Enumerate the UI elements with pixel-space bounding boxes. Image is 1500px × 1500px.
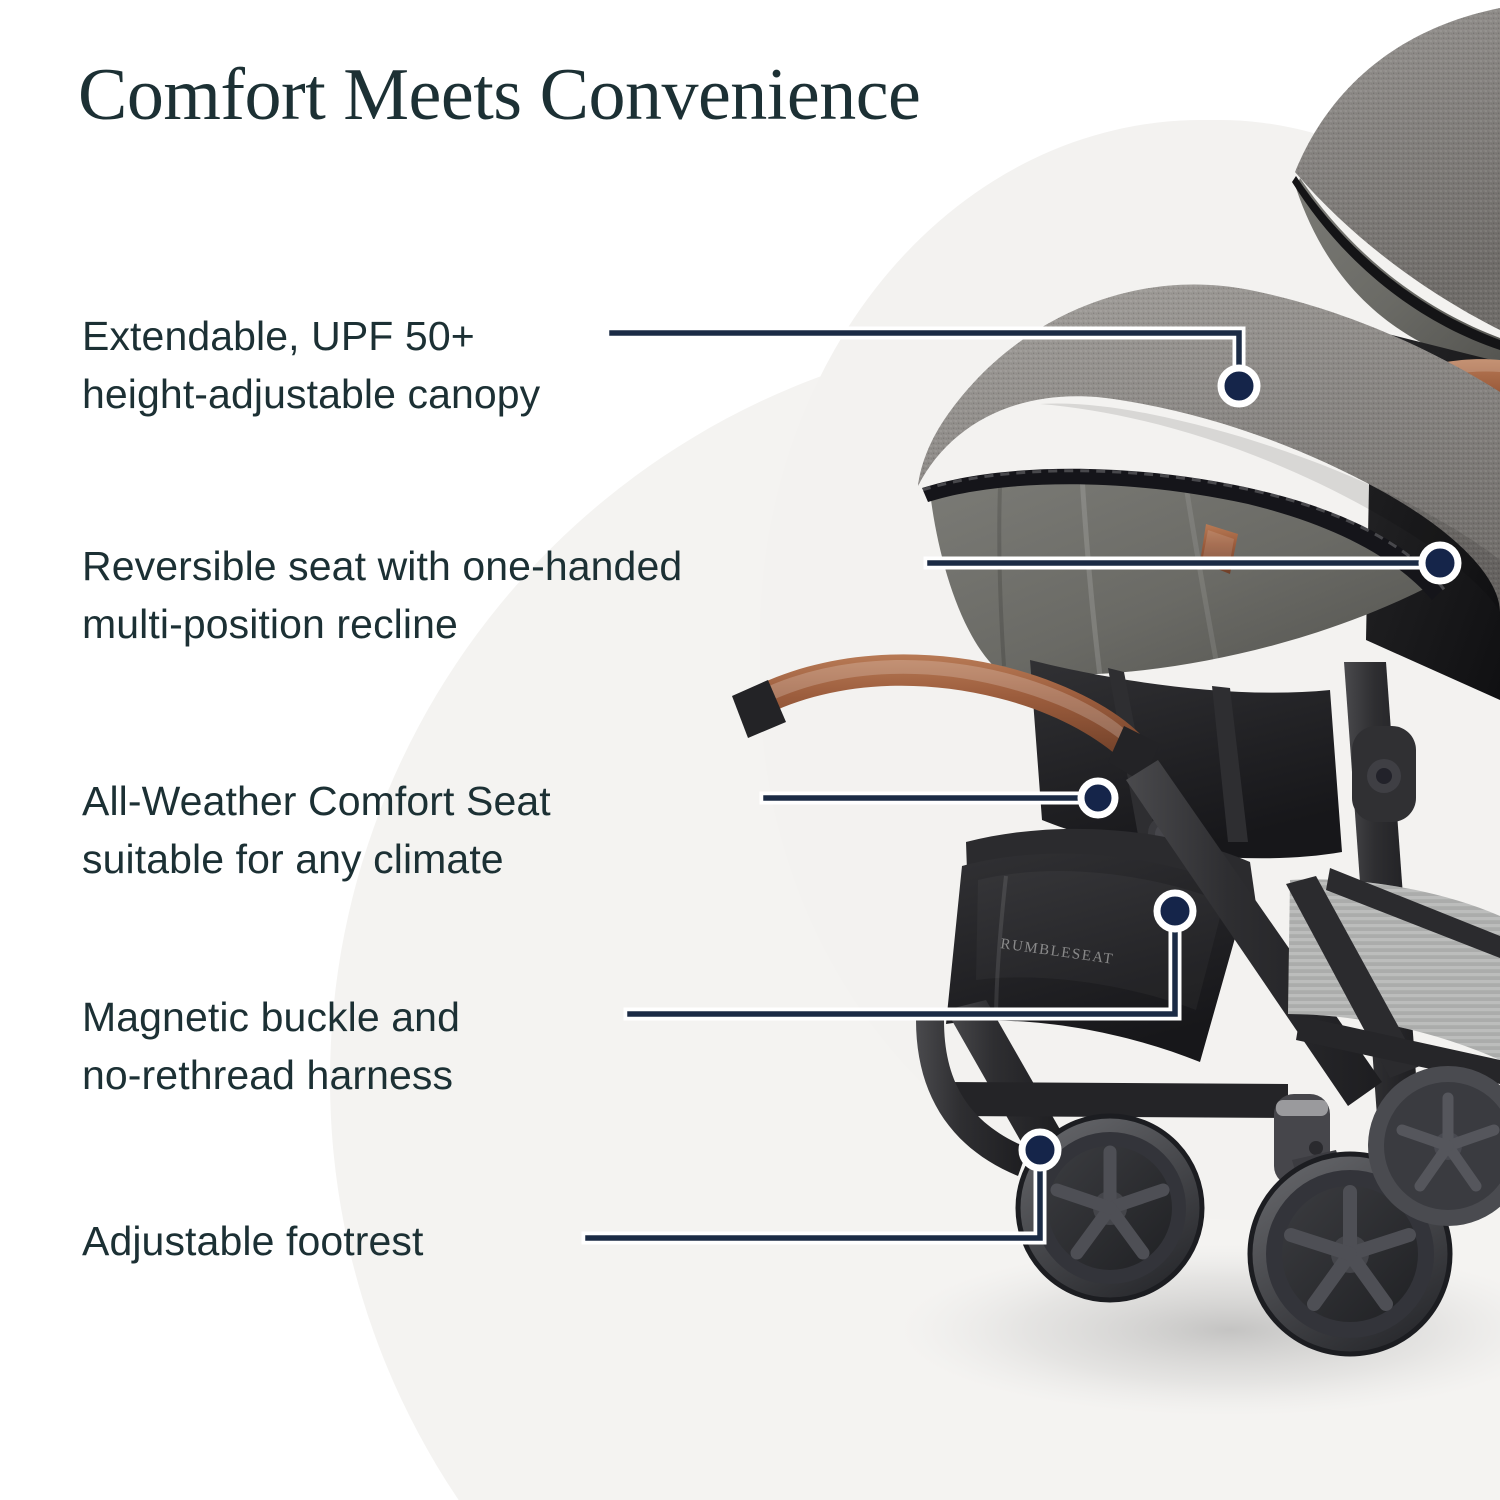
callout-halo-buckle	[630, 918, 1175, 1014]
callout-halo-canopy	[612, 333, 1239, 383]
callout-line-footrest	[588, 1158, 1040, 1238]
callout-line-canopy	[612, 333, 1239, 383]
callout-dot-footrest	[1022, 1132, 1058, 1168]
infographic-canvas: RUMBLESEAT	[0, 0, 1500, 1500]
callout-line-buckle	[630, 918, 1175, 1014]
callout-dot-seat	[1422, 545, 1458, 581]
callout-lines	[588, 333, 1434, 1238]
callout-dot-buckle	[1157, 893, 1193, 929]
callout-dot-comfort	[1081, 781, 1115, 815]
callout-halo-footrest	[588, 1158, 1040, 1238]
callout-halos	[588, 333, 1434, 1238]
callout-overlay	[0, 0, 1500, 1500]
callout-dot-canopy	[1221, 368, 1257, 404]
callout-dots	[1022, 368, 1458, 1168]
